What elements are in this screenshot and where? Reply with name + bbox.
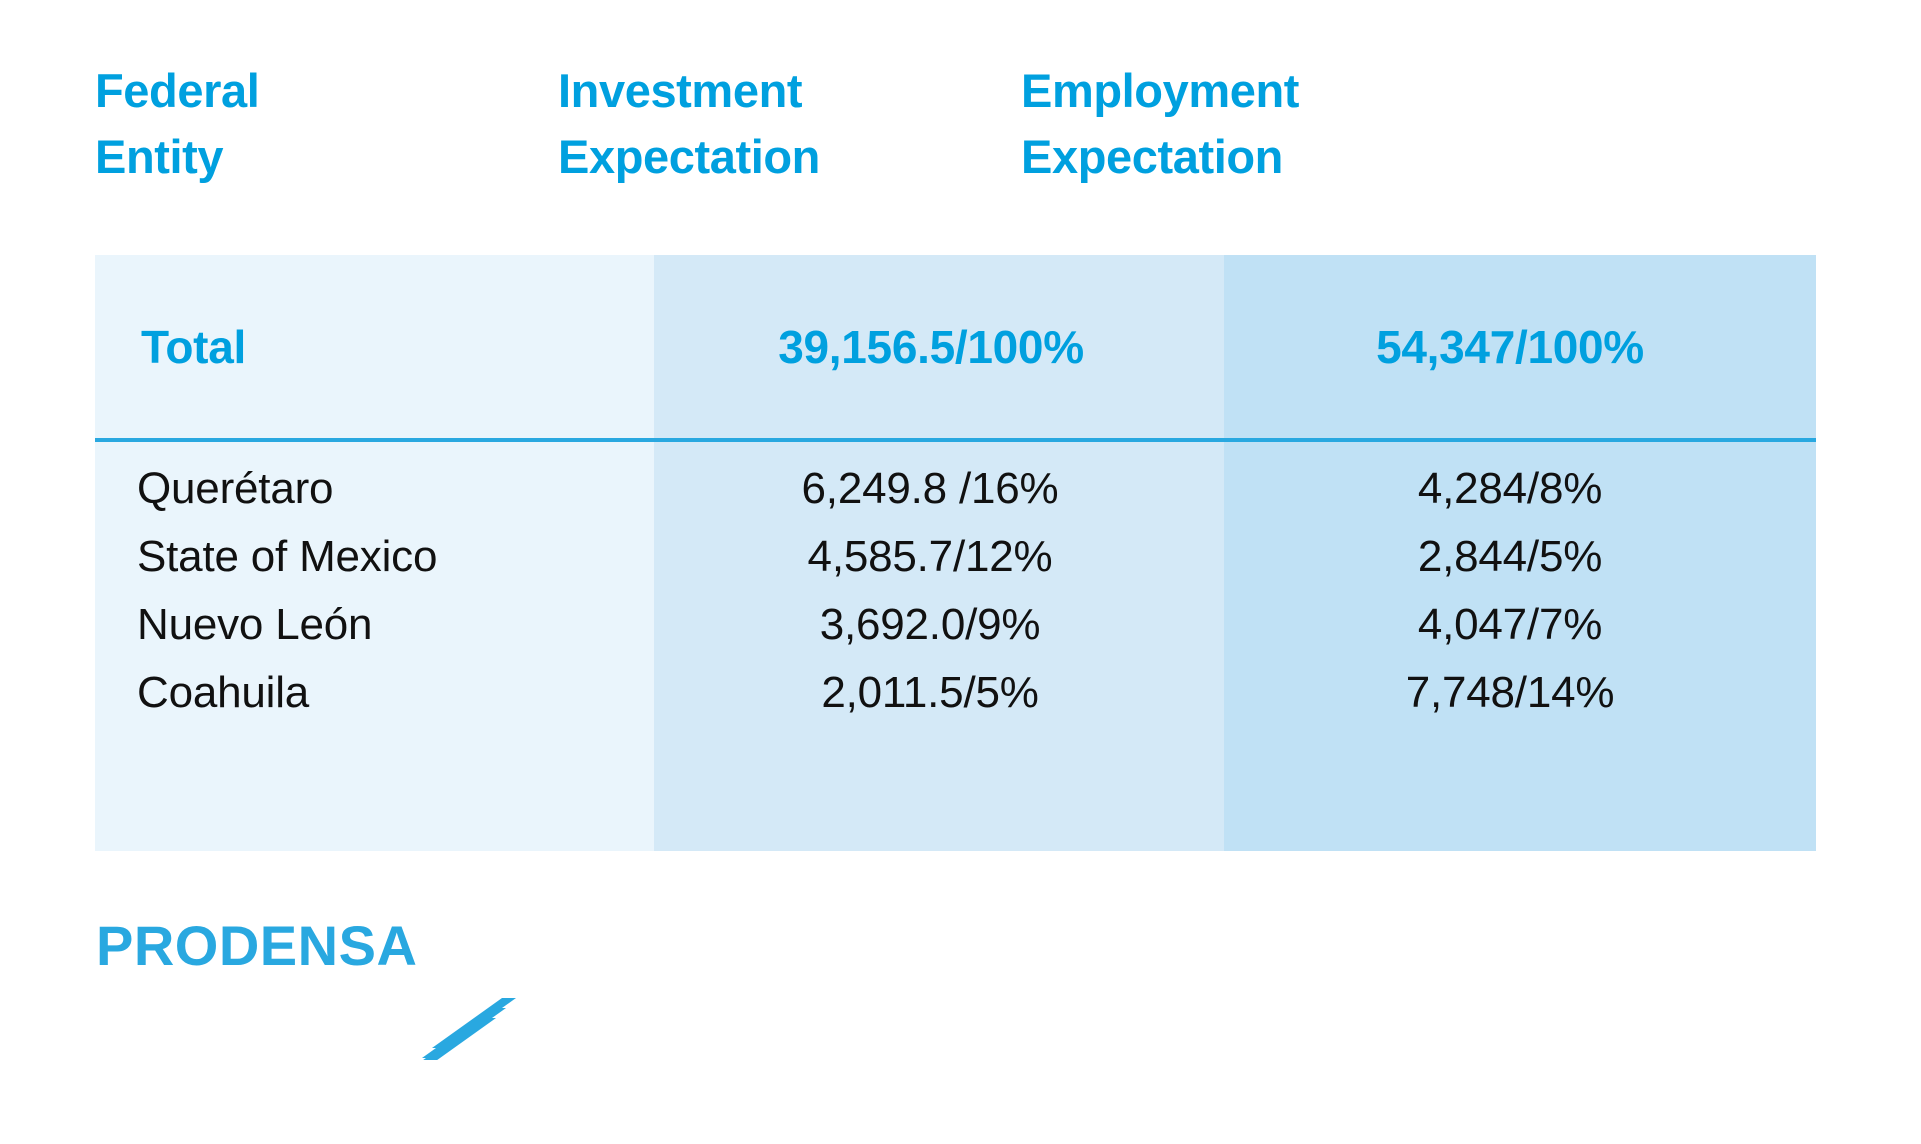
list-item: 6,249.8 /16% — [654, 455, 1224, 523]
list-item: 4,047/7% — [1224, 591, 1816, 659]
infographic-table-card: Federal Entity Investment Expectation Em… — [0, 0, 1921, 1144]
entity-name-list: Querétaro State of Mexico Nuevo León Coa… — [95, 455, 654, 727]
list-item: 4,585.7/12% — [654, 523, 1224, 591]
list-item: 7,748/14% — [1224, 659, 1816, 727]
column-investment-expectation: 39,156.5/100% 6,249.8 /16% 4,585.7/12% 3… — [654, 255, 1224, 851]
list-item: 2,011.5/5% — [654, 659, 1224, 727]
total-row-divider — [95, 438, 1816, 442]
total-employment-value: 54,347/100% — [1224, 320, 1816, 374]
three-slanted-bars-icon — [406, 990, 526, 1060]
table-body: Total Querétaro State of Mexico Nuevo Le… — [95, 255, 1816, 851]
list-item: Coahuila — [95, 659, 654, 727]
employment-value-list: 4,284/8% 2,844/5% 4,047/7% 7,748/14% — [1224, 455, 1816, 727]
list-item: Nuevo León — [95, 591, 654, 659]
list-item: 3,692.0/9% — [654, 591, 1224, 659]
column-federal-entity: Total Querétaro State of Mexico Nuevo Le… — [95, 255, 654, 851]
total-cell-label: Total — [95, 255, 654, 438]
list-item: State of Mexico — [95, 523, 654, 591]
column-employment-expectation: 54,347/100% 4,284/8% 2,844/5% 4,047/7% 7… — [1224, 255, 1816, 851]
total-investment-value: 39,156.5/100% — [654, 320, 1224, 374]
prodensa-logo: PRODENSA — [96, 918, 516, 1078]
column-header-federal-entity: Federal Entity — [95, 58, 558, 190]
total-label: Total — [95, 320, 246, 374]
list-item: Querétaro — [95, 455, 654, 523]
logo-wordmark: PRODENSA — [96, 918, 516, 974]
total-cell-investment: 39,156.5/100% — [654, 255, 1224, 438]
table-header-row: Federal Entity Investment Expectation Em… — [95, 58, 1845, 190]
list-item: 2,844/5% — [1224, 523, 1816, 591]
total-cell-employment: 54,347/100% — [1224, 255, 1816, 438]
column-header-employment-expectation: Employment Expectation — [1021, 58, 1581, 190]
investment-value-list: 6,249.8 /16% 4,585.7/12% 3,692.0/9% 2,01… — [654, 455, 1224, 727]
column-header-investment-expectation: Investment Expectation — [558, 58, 1021, 190]
list-item: 4,284/8% — [1224, 455, 1816, 523]
